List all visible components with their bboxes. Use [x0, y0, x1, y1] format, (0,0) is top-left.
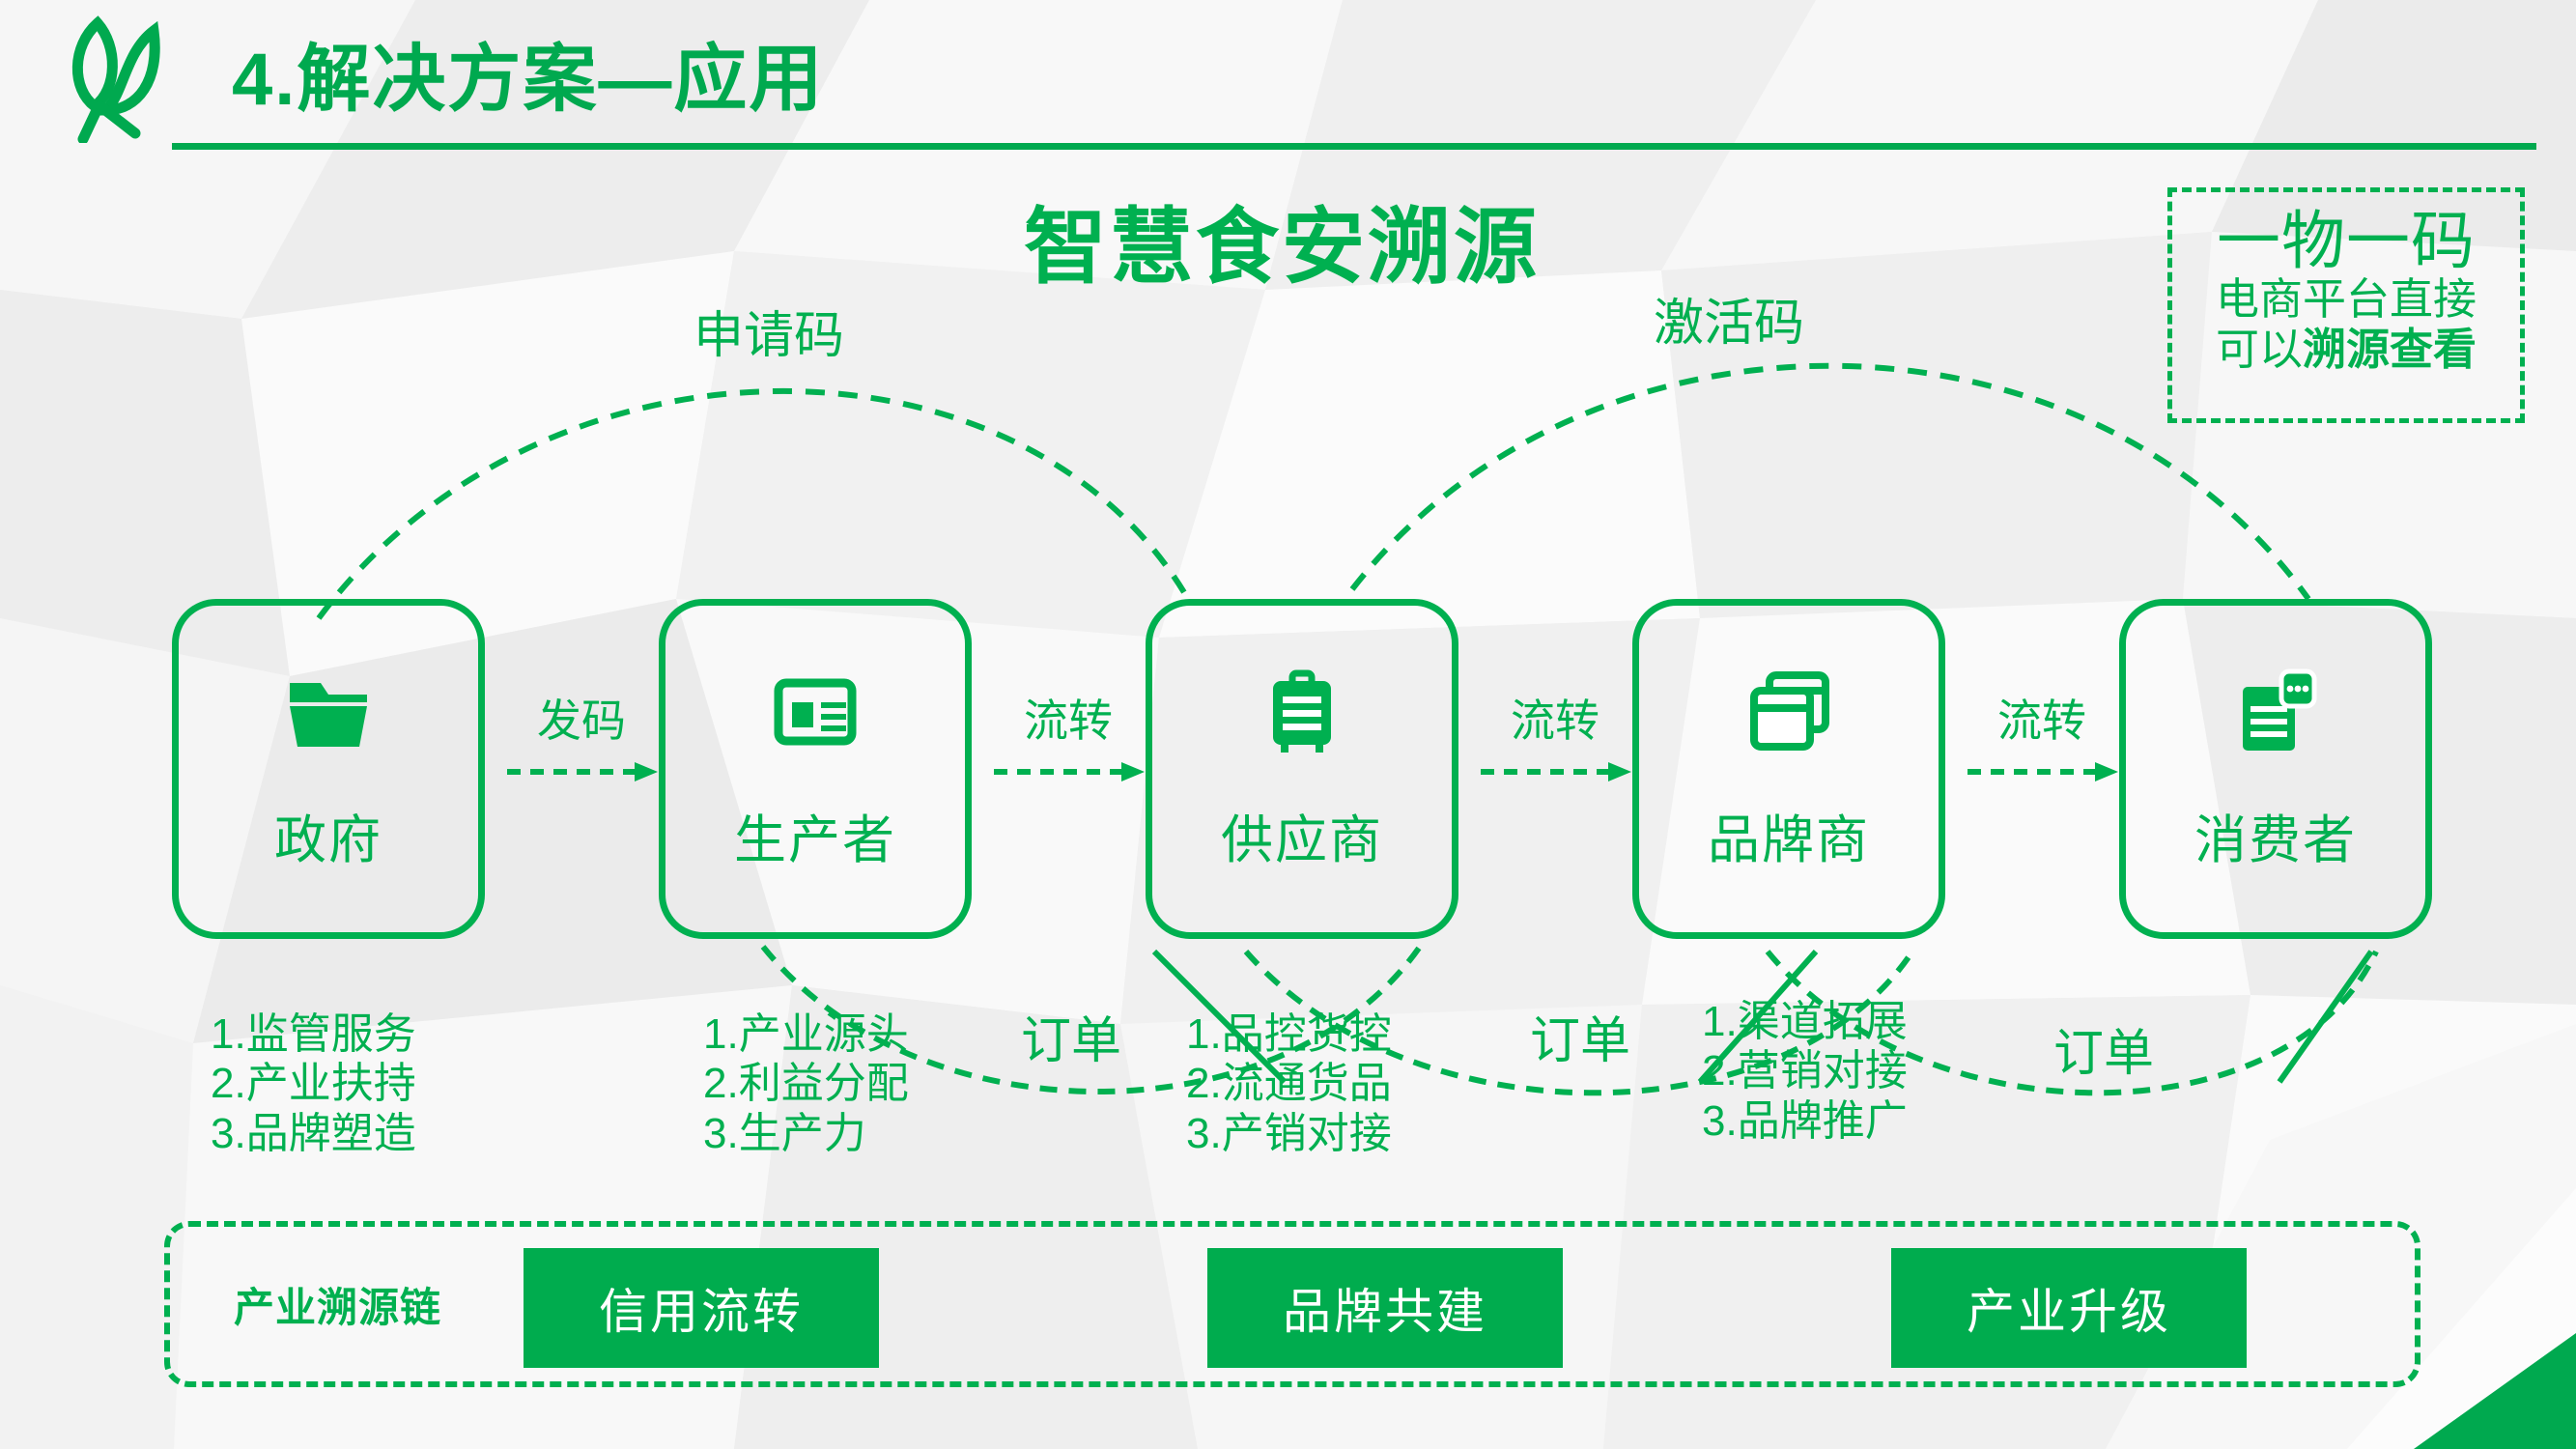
bottom-bar-label: 产业溯源链 [234, 1275, 441, 1334]
arc-label-order-1: 订单 [1021, 1000, 1121, 1072]
chip-credit-flow[interactable]: 信用流转 [524, 1248, 879, 1368]
node-brand-owner[interactable]: 品牌商 [1632, 599, 1945, 939]
clipboard-icon [1256, 666, 1348, 758]
node-producer[interactable]: 生产者 [659, 599, 972, 939]
chip-industry-upgrade[interactable]: 产业升级 [1891, 1248, 2247, 1368]
leaf-icon [56, 14, 170, 143]
list-item: 3.品牌塑造 [211, 1109, 416, 1158]
list-item: 3.产销对接 [1186, 1109, 1392, 1158]
page-title: 4.解决方案—应用 [232, 19, 824, 126]
node-government[interactable]: 政府 [172, 599, 485, 939]
arc-label-apply-code: 申请码 [694, 295, 844, 367]
corner-accent-triangle [2414, 1333, 2576, 1449]
arc-label-order-3: 订单 [2053, 1012, 2154, 1085]
arc-label-activate-code: 激活码 [1654, 282, 1804, 355]
main-title: 智慧食安溯源 [1024, 179, 1540, 299]
flow-label: 流转 [977, 686, 1160, 750]
slide-header: 4.解决方案—应用 [0, 0, 2576, 155]
bullet-group-government: 1.监管服务 2.产业扶持 3.品牌塑造 [211, 1009, 416, 1158]
node-consumer[interactable]: 消费者 [2119, 599, 2432, 939]
callout-line-1: 电商平台直接 [2216, 274, 2477, 324]
list-item: 1.品控货控 [1186, 1009, 1392, 1059]
callout-line-2: 可以溯源查看 [2216, 325, 2477, 374]
arrow-right-icon [1950, 757, 2134, 786]
stacked-cards-icon [1742, 666, 1835, 758]
flow-label: 发码 [490, 686, 673, 750]
bullet-group-producer: 1.产业源头 2.利益分配 3.生产力 [703, 1009, 909, 1158]
node-label: 消费者 [2194, 797, 2357, 873]
id-card-icon [769, 666, 862, 758]
header-divider [172, 143, 2536, 150]
slide-canvas: 4.解决方案—应用 智慧食安溯源 一物一码 电商平台直接 可以溯源查看 申请码 … [0, 0, 2576, 1449]
arrow-right-icon [1463, 757, 1647, 786]
list-item: 2.营销对接 [1702, 1046, 1908, 1095]
bullet-group-brand-owner: 1.渠道拓展 2.营销对接 3.品牌推广 [1702, 997, 1908, 1146]
flow-connector-3: 流转 [1950, 686, 2134, 786]
bottom-bar: 产业溯源链 信用流转 品牌共建 产业升级 [164, 1221, 2420, 1387]
list-item: 2.利益分配 [703, 1059, 909, 1108]
node-supplier[interactable]: 供应商 [1146, 599, 1458, 939]
flow-connector-1: 流转 [977, 686, 1160, 786]
flow-label: 流转 [1463, 686, 1647, 750]
flow-connector-0: 发码 [490, 686, 673, 786]
list-item: 3.生产力 [703, 1109, 909, 1158]
document-chat-icon [2229, 666, 2322, 758]
list-item: 2.产业扶持 [211, 1059, 416, 1108]
node-label: 供应商 [1221, 797, 1383, 873]
arc-label-order-2: 订单 [1530, 1000, 1630, 1072]
list-item: 1.渠道拓展 [1702, 997, 1908, 1046]
arrow-right-icon [977, 757, 1160, 786]
callout-box: 一物一码 电商平台直接 可以溯源查看 [2167, 187, 2525, 423]
callout-line-2-prefix: 可以 [2216, 325, 2303, 374]
list-item: 2.流通货品 [1186, 1059, 1392, 1108]
node-label: 品牌商 [1708, 797, 1870, 873]
chip-brand-building[interactable]: 品牌共建 [1207, 1248, 1563, 1368]
flow-connector-2: 流转 [1463, 686, 1647, 786]
callout-line-2-emphasis: 溯源查看 [2303, 325, 2477, 374]
flow-label: 流转 [1950, 686, 2134, 750]
list-item: 1.监管服务 [211, 1009, 416, 1059]
node-label: 生产者 [734, 797, 896, 873]
node-label: 政府 [274, 797, 382, 873]
bullet-group-supplier: 1.品控货控 2.流通货品 3.产销对接 [1186, 1009, 1392, 1158]
list-item: 1.产业源头 [703, 1009, 909, 1059]
callout-title: 一物一码 [2217, 208, 2476, 274]
folder-icon [282, 666, 375, 758]
list-item: 3.品牌推广 [1702, 1096, 1908, 1146]
arrow-right-icon [490, 757, 673, 786]
